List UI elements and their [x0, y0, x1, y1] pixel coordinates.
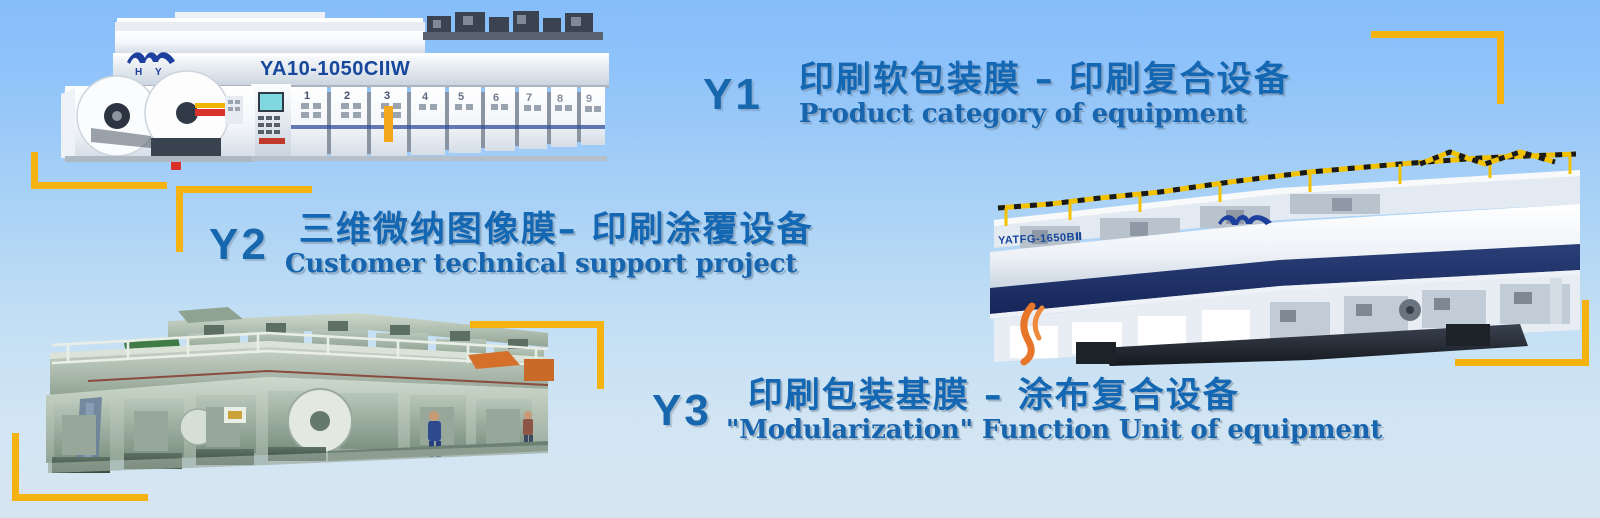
bracket-bottom-left-horizontal [12, 494, 148, 501]
unit-number-1: 1 [304, 90, 310, 102]
unit-number-2: 2 [344, 90, 350, 102]
unit-number-4: 4 [422, 91, 428, 103]
unit-number-5: 5 [458, 91, 464, 103]
text-block-y3: Y3 印刷包装基膜 – 涂布复合设备 "Modularization" Func… [652, 378, 1382, 444]
title-en-y1: Product category of equipment [799, 100, 1291, 128]
title-group-y1: 印刷软包装膜 – 印刷复合设备 Product category of equi… [763, 62, 1291, 128]
rotogravure-press-illustration [55, 8, 615, 173]
unit-number-7: 7 [526, 92, 532, 104]
bracket-left-upper-horizontal [31, 182, 167, 189]
hy-logo-icon-right [1215, 210, 1275, 237]
unit-number-9: 9 [586, 93, 592, 105]
bracket-top-right-vertical [1497, 31, 1504, 104]
title-cn-y1: 印刷软包装膜 – 印刷复合设备 [799, 62, 1291, 100]
bracket-y3-horizontal [470, 321, 604, 328]
bracket-y2-vertical [176, 186, 183, 252]
title-group-y3: 印刷包装基膜 – 涂布复合设备 "Modularization" Functio… [712, 378, 1382, 444]
title-cn-y3: 印刷包装基膜 – 涂布复合设备 [748, 378, 1382, 416]
title-en-y3: "Modularization" Function Unit of equipm… [726, 416, 1382, 444]
code-label-y1: Y1 [703, 70, 763, 120]
banner-root: YA10-1050CIIW H Y 1 2 3 4 5 6 7 8 9 [0, 0, 1600, 518]
bracket-bottom-right-vertical [1582, 300, 1589, 366]
unit-number-8: 8 [557, 93, 563, 105]
bracket-y3-vertical [597, 321, 604, 389]
bracket-bottom-right-horizontal [1455, 359, 1589, 366]
paper-coating-line-illustration [28, 303, 578, 488]
code-label-y2: Y2 [209, 220, 269, 270]
title-group-y2: 三维微纳图像膜– 印刷涂覆设备 Customer technical suppo… [269, 212, 814, 278]
unit-number-6: 6 [493, 92, 499, 104]
machine-model-label-y1: YA10-1050CIIW [260, 58, 410, 81]
machine-rotogravure-press: YA10-1050CIIW H Y 1 2 3 4 5 6 7 8 9 [55, 8, 615, 173]
text-block-y2: Y2 三维微纳图像膜– 印刷涂覆设备 Customer technical su… [209, 212, 814, 278]
machine-paper-coating-line [28, 303, 578, 488]
bracket-bottom-left-vertical [12, 433, 19, 501]
svg-text:H: H [135, 67, 142, 76]
title-en-y2: Customer technical support project [285, 250, 814, 278]
coating-laminator-illustration [980, 148, 1580, 368]
svg-text:Y: Y [155, 67, 162, 76]
bracket-top-right-horizontal [1371, 31, 1504, 38]
worker-figure-2 [523, 411, 533, 447]
bracket-y2-horizontal [176, 186, 312, 193]
unit-number-3: 3 [384, 90, 390, 102]
text-block-y1: Y1 印刷软包装膜 – 印刷复合设备 Product category of e… [703, 62, 1291, 128]
title-cn-y2: 三维微纳图像膜– 印刷涂覆设备 [299, 212, 814, 250]
code-label-y3: Y3 [652, 386, 712, 436]
hy-logo-icon: H Y [123, 46, 179, 81]
machine-coating-laminator: YATFG-1650BⅡ [980, 148, 1580, 368]
bracket-left-upper-vertical [31, 152, 38, 185]
